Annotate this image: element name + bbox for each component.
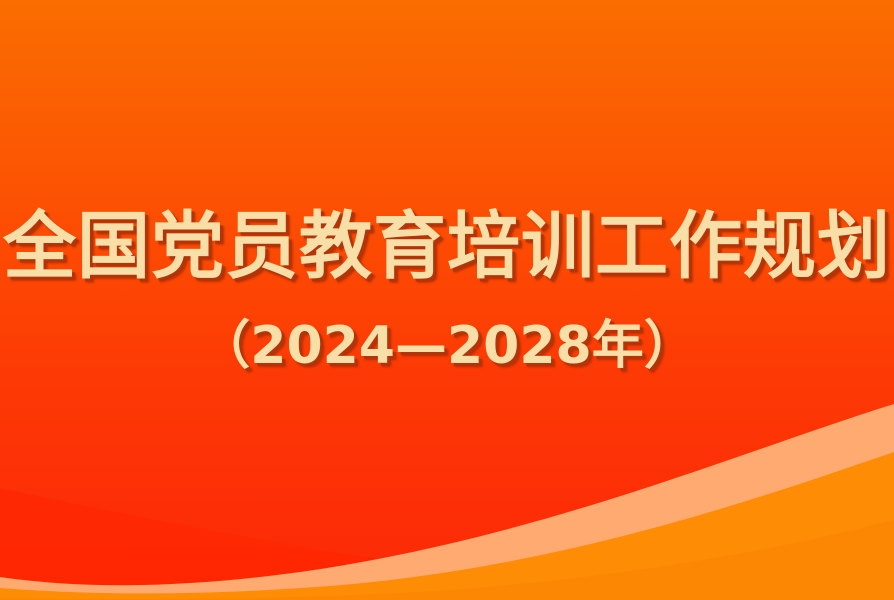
page-subtitle: （2024—2028年） <box>0 313 894 379</box>
poster-banner: 全国党员教育培训工作规划 （2024—2028年） <box>0 0 894 600</box>
page-title: 全国党员教育培训工作规划 <box>0 203 894 291</box>
title-block: 全国党员教育培训工作规划 （2024—2028年） <box>0 0 894 600</box>
